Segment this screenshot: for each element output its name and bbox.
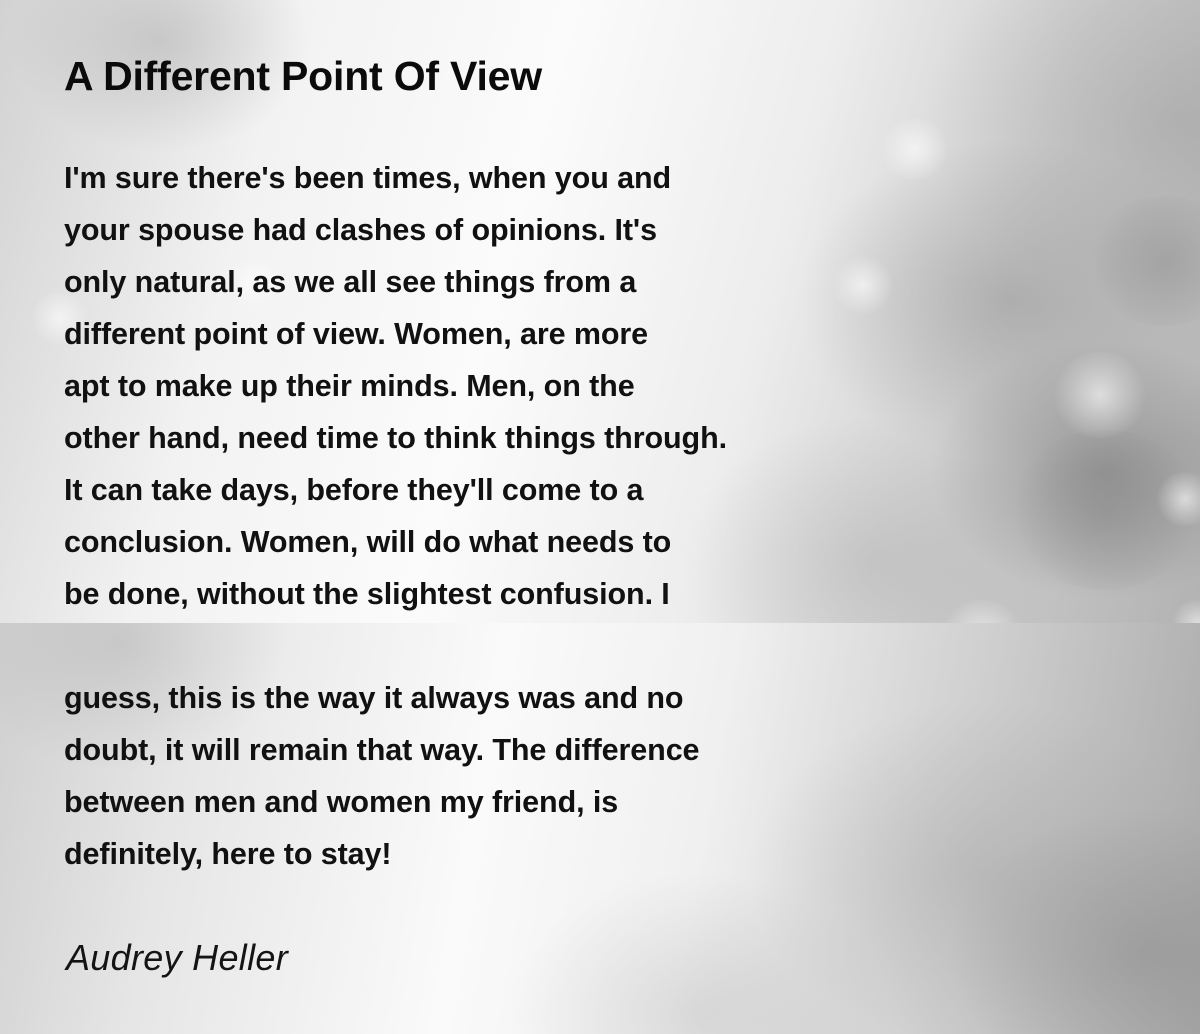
- poem-line: guess, this is the way it always was and…: [64, 672, 884, 724]
- poem-line: doubt, it will remain that way. The diff…: [64, 724, 884, 776]
- poem-body: I'm sure there's been times, when you an…: [64, 152, 884, 880]
- poem-line: other hand, need time to think things th…: [64, 412, 884, 464]
- poem-author: Audrey Heller: [66, 936, 288, 980]
- stanza-separator: [64, 620, 884, 672]
- page-title: A Different Point Of View: [64, 52, 542, 100]
- poem-line: between men and women my friend, is: [64, 776, 884, 828]
- poem-line: conclusion. Women, will do what needs to: [64, 516, 884, 568]
- poem-line: your spouse had clashes of opinions. It'…: [64, 204, 884, 256]
- poem-content: A Different Point Of View I'm sure there…: [0, 0, 1200, 1034]
- poem-line: It can take days, before they'll come to…: [64, 464, 884, 516]
- poem-line: definitely, here to stay!: [64, 828, 884, 880]
- poem-line: be done, without the slightest confusion…: [64, 568, 884, 620]
- poem-line: different point of view. Women, are more: [64, 308, 884, 360]
- poem-line: apt to make up their minds. Men, on the: [64, 360, 884, 412]
- poem-line: I'm sure there's been times, when you an…: [64, 152, 884, 204]
- poem-image-card: A Different Point Of View I'm sure there…: [0, 0, 1200, 1034]
- poem-line: only natural, as we all see things from …: [64, 256, 884, 308]
